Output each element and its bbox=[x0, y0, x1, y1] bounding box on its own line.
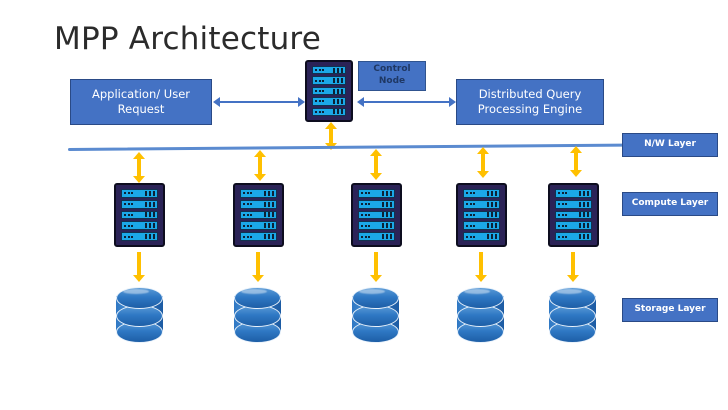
arrow-network-to-compute-3 bbox=[370, 149, 382, 180]
rack-slot-dots bbox=[315, 100, 324, 102]
control-node-label[interactable]: Control Node bbox=[358, 61, 426, 91]
query-engine-line2: Processing Engine bbox=[478, 102, 582, 117]
application-box-line2: Request bbox=[92, 102, 190, 117]
rack-slot bbox=[312, 97, 346, 105]
arrow-right-tip bbox=[298, 97, 305, 107]
compute-node-2[interactable] bbox=[233, 183, 284, 247]
compute-node-1[interactable] bbox=[114, 183, 165, 247]
rack-slot-bars bbox=[333, 109, 344, 114]
arrow-compute-to-storage-5 bbox=[567, 252, 579, 282]
db-disc-top bbox=[116, 287, 163, 309]
layer-label-network[interactable]: N/W Layer bbox=[622, 133, 718, 157]
storage-node-4[interactable] bbox=[457, 285, 504, 343]
compute-node-5[interactable] bbox=[548, 183, 599, 247]
db-gloss bbox=[123, 289, 149, 294]
application-box-line1: Application/ User bbox=[92, 87, 190, 102]
arrow-network-to-compute-4 bbox=[477, 147, 489, 178]
query-engine-line1: Distributed Query bbox=[478, 87, 582, 102]
storage-node-2[interactable] bbox=[234, 285, 281, 343]
arrow-shaft bbox=[219, 101, 299, 103]
rack-slot-dots bbox=[315, 111, 324, 113]
layer-label-compute[interactable]: Compute Layer bbox=[622, 192, 718, 216]
network-layer-line bbox=[68, 144, 624, 151]
arrow-compute-to-storage-2 bbox=[252, 252, 264, 282]
arrow-network-to-compute-5 bbox=[570, 146, 582, 177]
rack-slot-bars bbox=[333, 78, 344, 83]
arrow-control-node-to-query-engine bbox=[357, 96, 456, 108]
layer-label-text: Storage Layer bbox=[634, 304, 705, 316]
rack-slot-dots bbox=[315, 90, 324, 92]
rack-slot bbox=[312, 87, 346, 95]
arrow-shaft bbox=[363, 101, 450, 103]
control-node-server-icon[interactable] bbox=[305, 60, 353, 122]
control-node-label-line1: Control bbox=[373, 64, 410, 76]
rack-slot-bars bbox=[333, 68, 344, 73]
arrow-right-tip bbox=[449, 97, 456, 107]
storage-node-5[interactable] bbox=[549, 285, 596, 343]
rack-slot-bars bbox=[333, 99, 344, 104]
rack-slot bbox=[312, 66, 346, 74]
layer-label-text: Compute Layer bbox=[632, 198, 709, 210]
rack-slot-dots bbox=[315, 80, 324, 82]
rack-slot bbox=[312, 108, 346, 116]
mpp-architecture-diagram: MPP Architecture Application/ User Reque… bbox=[0, 0, 728, 410]
storage-node-1[interactable] bbox=[116, 285, 163, 343]
rack-slot-bars bbox=[333, 89, 344, 94]
page-title: MPP Architecture bbox=[54, 24, 321, 55]
distributed-query-processing-engine-box[interactable]: Distributed Query Processing Engine bbox=[456, 79, 604, 125]
arrow-shaft bbox=[329, 128, 333, 144]
layer-label-text: N/W Layer bbox=[644, 139, 696, 151]
arrow-network-to-compute-1 bbox=[133, 152, 145, 183]
application-user-request-box[interactable]: Application/ User Request bbox=[70, 79, 212, 125]
arrow-compute-to-storage-3 bbox=[370, 252, 382, 282]
compute-node-3[interactable] bbox=[351, 183, 402, 247]
layer-label-storage[interactable]: Storage Layer bbox=[622, 298, 718, 322]
arrow-network-to-compute-2 bbox=[254, 150, 266, 181]
rack-slot-dots bbox=[315, 69, 324, 71]
arrow-compute-to-storage-1 bbox=[133, 252, 145, 282]
rack-slot bbox=[312, 76, 346, 84]
arrow-compute-to-storage-4 bbox=[475, 252, 487, 282]
rack-frame bbox=[305, 60, 353, 122]
control-node-label-line2: Node bbox=[373, 76, 410, 88]
arrow-application-to-control-node bbox=[213, 96, 305, 108]
storage-node-3[interactable] bbox=[352, 285, 399, 343]
compute-node-4[interactable] bbox=[456, 183, 507, 247]
